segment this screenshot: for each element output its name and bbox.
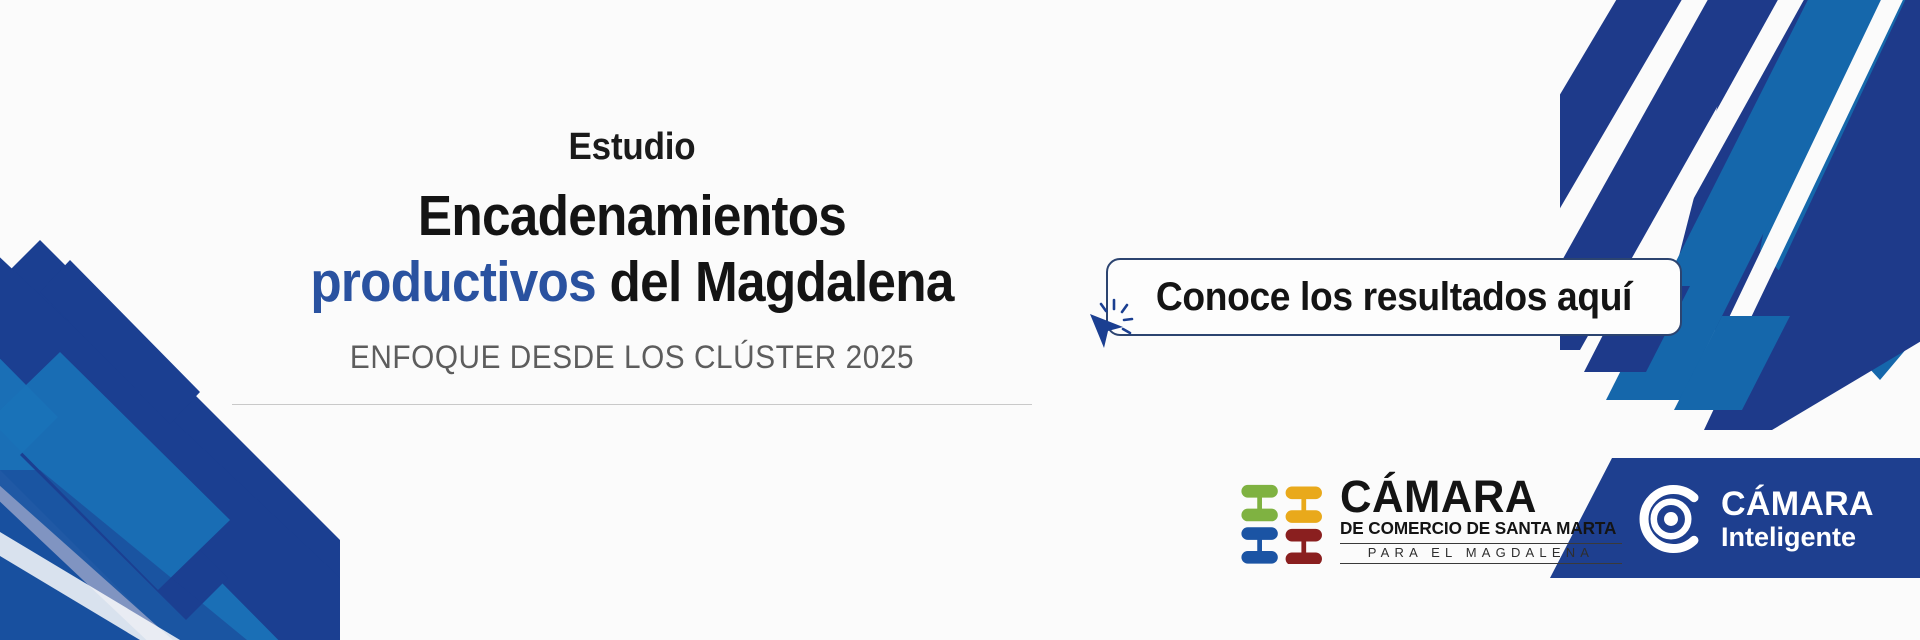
camara-inteligente-subtitle: Inteligente <box>1721 524 1874 551</box>
headline-block: Estudio Encadenamientos productivos del … <box>232 128 1032 405</box>
headline-line-1: Encadenamientos <box>272 186 992 246</box>
headline-line-2: productivos del Magdalena <box>272 252 992 312</box>
click-cursor-icon <box>1078 292 1144 358</box>
camara-comercio-logo: CÁMARA DE COMERCIO DE SANTA MARTA PARA E… <box>1238 472 1622 564</box>
camara-comercio-subtitle: DE COMERCIO DE SANTA MARTA <box>1340 518 1616 540</box>
interlocking-links-icon <box>1238 472 1330 564</box>
headline-accent-word: productivos <box>310 250 596 314</box>
promo-banner: Estudio Encadenamientos productivos del … <box>0 0 1920 640</box>
concentric-circle-icon <box>1630 478 1712 560</box>
camara-inteligente-wordmark: CÁMARA Inteligente <box>1721 487 1874 551</box>
divider-rule <box>232 404 1032 405</box>
cta-label: Conoce los resultados aquí <box>1156 277 1632 317</box>
camara-inteligente-logo: CÁMARA Inteligente <box>1630 478 1874 560</box>
camara-comercio-name: CÁMARA <box>1340 476 1613 517</box>
subtitle-label: ENFOQUE DESDE LOS CLÚSTER 2025 <box>260 339 1004 376</box>
camara-inteligente-name: CÁMARA <box>1721 487 1874 521</box>
conoce-resultados-button[interactable]: Conoce los resultados aquí <box>1106 258 1682 336</box>
eyebrow-label: Estudio <box>264 128 1000 166</box>
headline-line-2-rest: del Magdalena <box>610 250 954 314</box>
camara-comercio-wordmark: CÁMARA DE COMERCIO DE SANTA MARTA PARA E… <box>1340 472 1622 563</box>
camara-comercio-tagline: PARA EL MAGDALENA <box>1340 543 1622 564</box>
